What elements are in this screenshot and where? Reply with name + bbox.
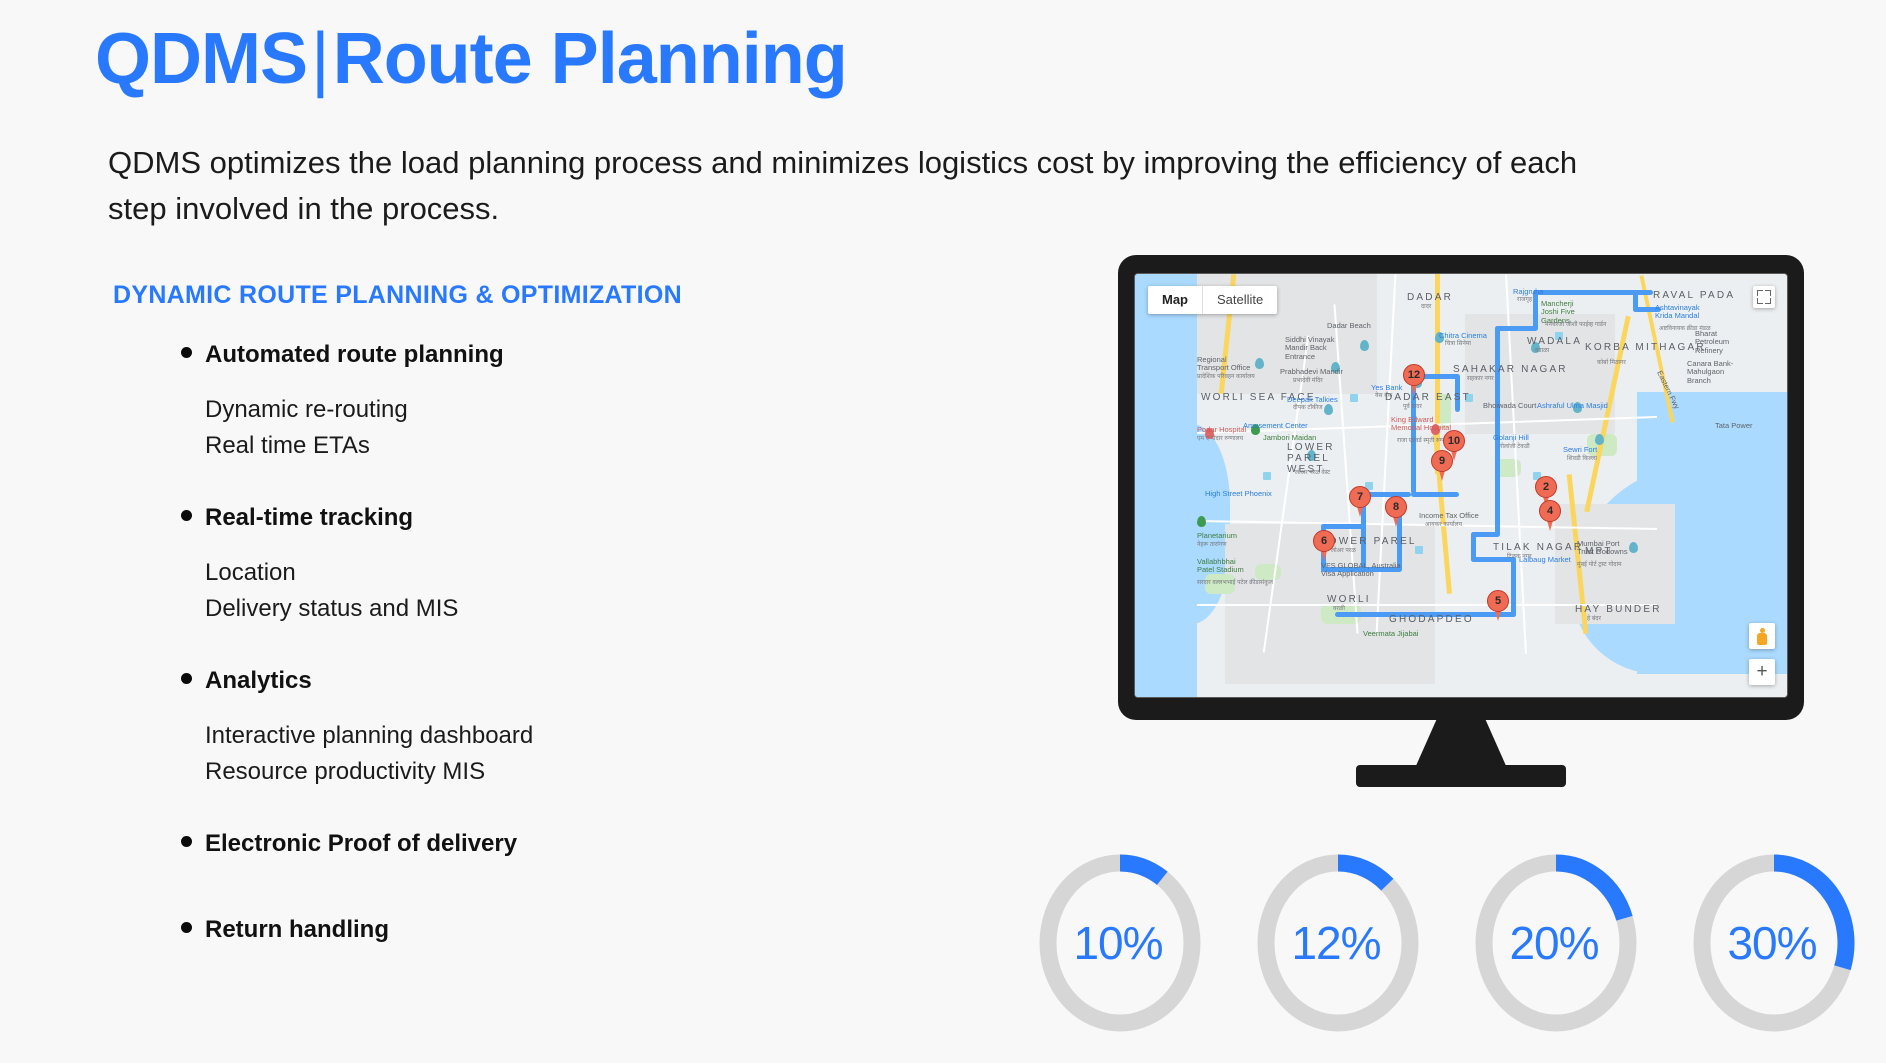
monitor-screen: DADAR दादर DADAR EAST पूर्व दादर WADALA … bbox=[1134, 273, 1788, 698]
area-label: DADAR bbox=[1407, 292, 1453, 303]
poi-marker-icon bbox=[1629, 542, 1638, 553]
pin-label: 2 bbox=[1535, 476, 1557, 498]
poi-marker-icon bbox=[1360, 340, 1369, 351]
bullet-dot-icon bbox=[181, 922, 192, 933]
area-label: HAY BUNDER bbox=[1575, 604, 1662, 615]
fullscreen-corner-br bbox=[1765, 298, 1771, 304]
poi-label: Income Tax Office bbox=[1419, 512, 1479, 520]
poi-label: Bharat Petroleum Refinery bbox=[1695, 330, 1743, 355]
poi-label-devanagari: मनचेरजी जोशी फाईव्ह गार्डन bbox=[1545, 322, 1606, 329]
donut-value-label: 10% bbox=[1030, 848, 1206, 1038]
area-label-devanagari: हे बंदर bbox=[1587, 616, 1601, 623]
list-item: Real-time tracking Location Delivery sta… bbox=[175, 503, 935, 628]
poi-label: Mumbai Port Trust Godowns bbox=[1577, 540, 1629, 557]
headline-divider: | bbox=[307, 19, 333, 99]
poi-label: Golanji Hill bbox=[1493, 434, 1529, 442]
area-label-devanagari: सहकार नगर bbox=[1467, 376, 1494, 383]
poi-label: Chitra Cinema bbox=[1439, 332, 1487, 340]
transit-icon bbox=[1350, 394, 1358, 402]
feature-heading: Return handling bbox=[175, 915, 935, 945]
donut-chart: 10% bbox=[1030, 848, 1206, 1038]
poi-label-devanagari: आयकर कार्यालय bbox=[1425, 522, 1462, 529]
pin-label: 6 bbox=[1313, 530, 1335, 552]
poi-label: Siddhi Vinayak Mandir Back Entrance bbox=[1285, 336, 1353, 361]
list-item: Electronic Proof of delivery bbox=[175, 829, 935, 859]
bullet-dot-icon bbox=[181, 510, 192, 521]
list-item: Analytics Interactive planning dashboard… bbox=[175, 666, 935, 791]
pin-label: 8 bbox=[1385, 496, 1407, 518]
fullscreen-icon[interactable] bbox=[1753, 286, 1775, 308]
poi-label: Sewri Fort bbox=[1563, 446, 1597, 454]
feature-heading: Real-time tracking bbox=[175, 503, 935, 533]
map-type-satellite[interactable]: Satellite bbox=[1203, 286, 1277, 314]
park-marker-icon bbox=[1197, 516, 1206, 527]
feature-subitem: Dynamic re-routing bbox=[175, 392, 935, 428]
pin-label: 7 bbox=[1349, 486, 1371, 508]
bullet-dot-icon bbox=[181, 673, 192, 684]
feature-subitem: Real time ETAs bbox=[175, 428, 935, 464]
poi-marker-icon bbox=[1595, 434, 1604, 445]
donut-chart: 20% bbox=[1466, 848, 1642, 1038]
area-label: RAVAL PADA bbox=[1653, 290, 1735, 301]
donut-chart: 30% bbox=[1684, 848, 1860, 1038]
transit-icon bbox=[1263, 472, 1271, 480]
route-line bbox=[1411, 492, 1459, 497]
poi-label: Amusement Center bbox=[1243, 422, 1308, 430]
feature-subitem: Resource productivity MIS bbox=[175, 754, 935, 790]
map-canvas[interactable]: DADAR दादर DADAR EAST पूर्व दादर WADALA … bbox=[1135, 274, 1787, 697]
monitor-stand-base bbox=[1356, 765, 1566, 787]
kpi-donut-group: 10% 12% 20% 30% bbox=[1030, 848, 1860, 1038]
area-label: WORLI bbox=[1327, 594, 1371, 605]
area-label-devanagari: कोर्बा मिठागर bbox=[1597, 360, 1626, 367]
route-stop-pin[interactable]: 8 bbox=[1385, 496, 1407, 526]
area-label-devanagari: पूर्व दादर bbox=[1403, 404, 1422, 411]
feature-sublist: Location Delivery status and MIS bbox=[175, 555, 935, 628]
poi-label-devanagari: सरदार वल्लभभाई पटेल क्रीडासंकुल bbox=[1197, 580, 1273, 587]
poi-label: Regional Transport Office bbox=[1197, 356, 1253, 373]
list-item: Automated route planning Dynamic re-rout… bbox=[175, 340, 935, 465]
poi-label: Rajgruha bbox=[1513, 288, 1543, 296]
pin-label: 10 bbox=[1443, 430, 1465, 452]
feature-heading: Automated route planning bbox=[175, 340, 935, 370]
route-line bbox=[1511, 557, 1516, 617]
feature-heading-label: Automated route planning bbox=[205, 341, 504, 368]
street-view-pegman-icon[interactable] bbox=[1749, 623, 1775, 649]
feature-subitem: Location bbox=[175, 555, 935, 591]
poi-label: Dadar Beach bbox=[1327, 322, 1371, 330]
feature-list: Automated route planning Dynamic re-rout… bbox=[175, 340, 935, 945]
page-title: QDMS|Route Planning bbox=[95, 22, 847, 98]
poi-label-devanagari: येस बँक bbox=[1375, 393, 1392, 400]
area-label-devanagari: लोअर परळ वेस्ट bbox=[1295, 470, 1330, 477]
poi-label: VFS GLOBAL, Australia Visa Application bbox=[1321, 562, 1401, 579]
poi-label: High Street Phoenix bbox=[1205, 490, 1272, 498]
area-label-devanagari: दादर bbox=[1421, 304, 1431, 311]
fullscreen-corner-tr bbox=[1765, 290, 1771, 296]
bullet-dot-icon bbox=[181, 836, 192, 847]
donut-value-label: 30% bbox=[1684, 848, 1860, 1038]
poi-label-devanagari: राजगृह bbox=[1517, 297, 1532, 304]
poi-label: Planetarium bbox=[1197, 532, 1237, 540]
poi-label: Tata Power bbox=[1715, 422, 1753, 430]
poi-label-devanagari: मुंबई पोर्ट ट्रस्ट गोदाम bbox=[1577, 562, 1622, 569]
area-label: SAHAKAR NAGAR bbox=[1453, 364, 1568, 375]
poi-label-devanagari: प्रादेशिक परिवहन कार्यालय bbox=[1197, 374, 1255, 381]
feature-heading-label: Electronic Proof of delivery bbox=[205, 830, 517, 857]
poi-marker-icon bbox=[1255, 358, 1264, 369]
pin-label: 12 bbox=[1403, 364, 1425, 386]
feature-heading-label: Real-time tracking bbox=[205, 504, 413, 531]
transit-icon bbox=[1415, 546, 1423, 554]
poi-label-devanagari: प्रभादेवी मंदिर bbox=[1293, 378, 1323, 385]
headline-brand: QDMS bbox=[95, 19, 307, 99]
route-line bbox=[1495, 326, 1500, 536]
area-label: LOWER PAREL bbox=[1321, 536, 1417, 547]
intro-paragraph: QDMS optimizes the load planning process… bbox=[108, 140, 1588, 232]
poi-label-devanagari: दीपक टॉकीज bbox=[1293, 405, 1323, 412]
pin-label: 4 bbox=[1539, 500, 1561, 522]
poi-label: Veermata Jijabai bbox=[1363, 630, 1418, 638]
route-stop-pin[interactable]: 12 bbox=[1403, 364, 1425, 394]
route-line bbox=[1321, 524, 1366, 529]
poi-label: Jambori Maidan bbox=[1263, 434, 1316, 442]
route-line bbox=[1495, 326, 1538, 331]
poi-label: Ashtavinayak Krida Mandal bbox=[1655, 304, 1705, 321]
area-label: TILAK NAGAR bbox=[1493, 542, 1583, 553]
donut-value-label: 12% bbox=[1248, 848, 1424, 1038]
feature-subitem: Interactive planning dashboard bbox=[175, 718, 935, 754]
fullscreen-corner-bl bbox=[1757, 298, 1763, 304]
headline-title: Route Planning bbox=[333, 19, 847, 99]
map-type-map[interactable]: Map bbox=[1148, 286, 1202, 314]
poi-marker-icon bbox=[1324, 404, 1333, 415]
feature-subitem: Delivery status and MIS bbox=[175, 591, 935, 627]
map-type-toggle[interactable]: Map Satellite bbox=[1148, 286, 1277, 314]
poi-label: Yes Bank bbox=[1371, 384, 1402, 392]
poi-label-devanagari: गोलांजी टेकडी bbox=[1499, 444, 1530, 451]
feature-heading-label: Return handling bbox=[205, 916, 389, 943]
bullet-dot-icon bbox=[181, 347, 192, 358]
area-label-devanagari: वरळी bbox=[1333, 606, 1345, 613]
feature-sublist: Interactive planning dashboard Resource … bbox=[175, 718, 935, 791]
route-stop-pin[interactable]: 9 bbox=[1431, 450, 1453, 480]
area-label: GHODAPDEO bbox=[1389, 614, 1474, 625]
route-stop-pin[interactable]: 6 bbox=[1313, 530, 1335, 560]
water-body-west-bay bbox=[1135, 424, 1230, 624]
poi-label: Lalbaug Market bbox=[1519, 556, 1571, 564]
poi-label-devanagari: नेहरू तारांगण bbox=[1197, 542, 1227, 549]
pin-label: 9 bbox=[1431, 450, 1453, 472]
monitor-bezel: DADAR दादर DADAR EAST पूर्व दादर WADALA … bbox=[1118, 255, 1804, 720]
feature-heading: Electronic Proof of delivery bbox=[175, 829, 935, 859]
area-label: WADALA bbox=[1527, 336, 1582, 347]
fullscreen-corner-tl bbox=[1757, 290, 1763, 296]
pegman-figure bbox=[1757, 628, 1767, 645]
poi-label: Ashraful Ulma Masjid bbox=[1537, 402, 1608, 410]
pegman-torso bbox=[1757, 633, 1767, 645]
route-stop-pin[interactable]: 4 bbox=[1539, 500, 1561, 530]
poi-label: Deepak Talkies bbox=[1287, 396, 1338, 404]
pin-label: 5 bbox=[1487, 590, 1509, 612]
route-stop-pin[interactable]: 5 bbox=[1487, 590, 1509, 620]
slide-root: QDMS|Route Planning QDMS optimizes the l… bbox=[0, 0, 1886, 1063]
donut-value-label: 20% bbox=[1466, 848, 1642, 1038]
feature-sublist: Dynamic re-routing Real time ETAs bbox=[175, 392, 935, 465]
area-label-devanagari: वडाळा bbox=[1535, 348, 1549, 355]
poi-label: Bhoiwada Court bbox=[1483, 402, 1536, 410]
route-stop-pin[interactable]: 7 bbox=[1349, 486, 1371, 516]
poi-label: Prabhadevi Mandir bbox=[1280, 368, 1343, 376]
area-label: DADAR EAST bbox=[1385, 392, 1471, 403]
donut-chart: 12% bbox=[1248, 848, 1424, 1038]
section-heading: DYNAMIC ROUTE PLANNING & OPTIMIZATION bbox=[113, 281, 682, 310]
area-label: KORBA MITHAGAR bbox=[1585, 342, 1706, 353]
poi-label-devanagari: एम ए पोदार रुग्णालय bbox=[1197, 436, 1243, 443]
poi-label-devanagari: शिवडी किल्ला bbox=[1567, 456, 1597, 463]
pegman-head bbox=[1760, 628, 1765, 633]
poi-label: Vallabhbhai Patel Stadium bbox=[1197, 558, 1253, 575]
zoom-in-button[interactable]: + bbox=[1749, 659, 1775, 685]
poi-label: Canara Bank- Mahulgaon Branch bbox=[1687, 360, 1739, 385]
feature-heading-label: Analytics bbox=[205, 667, 312, 694]
list-item: Return handling bbox=[175, 915, 935, 945]
poi-label-devanagari: चित्रा सिनेमा bbox=[1445, 341, 1471, 348]
feature-heading: Analytics bbox=[175, 666, 935, 696]
poi-label: Podar Hospital bbox=[1197, 426, 1246, 434]
park-area bbox=[1255, 564, 1281, 580]
monitor-mockup: DADAR दादर DADAR EAST पूर्व दादर WADALA … bbox=[1118, 255, 1804, 725]
